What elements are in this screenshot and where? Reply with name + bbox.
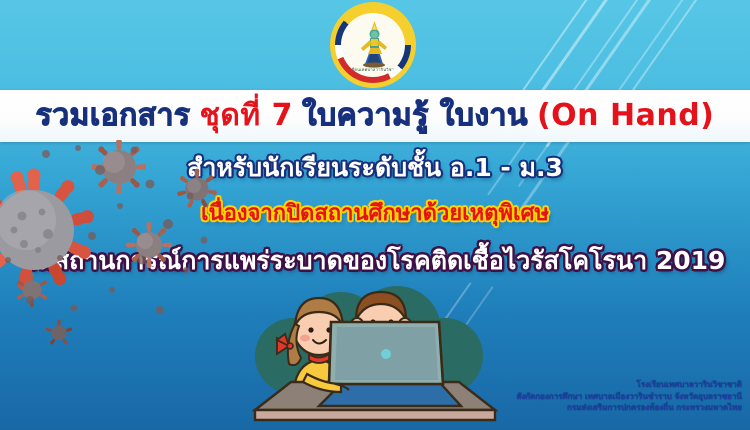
virus-particle-large — [0, 168, 96, 298]
title-part-3: ใบความรู้ ใบงาน — [302, 101, 528, 131]
credits-block: โรงเรียนเทศบาลวารินวิชาชาติ สังกัดกองการ… — [517, 379, 743, 414]
credit-line-2: สังกัดกองการศึกษา เทศบาลเมืองวารินชำราบ … — [517, 391, 743, 403]
banner-root: โรงเรียนเทศบาลวารินวิชาชาติ รวมเอกสาร ชุ… — [0, 0, 750, 430]
credit-line-1: โรงเรียนเทศบาลวารินวิชาชาติ — [517, 379, 743, 391]
virus-particle-small-2 — [44, 318, 74, 348]
credit-line-3: กรมส่งเสริมการปกครองท้องถิ่น กระทรวงมหาด… — [517, 402, 743, 414]
logo-inner-disc: โรงเรียนเทศบาลวารินวิชาชาติ — [341, 13, 405, 77]
illustration-children-laptop — [245, 278, 500, 430]
subtitle-situation: ในสถานการณ์การแพร่ระบาดของโรคติดเชื้อไวร… — [0, 248, 750, 273]
subtitle-grade-range: สำหรับนักเรียนระดับชั้น อ.1 - ม.3 — [0, 155, 750, 180]
logo-ring-text: โรงเรียนเทศบาลวารินวิชาชาติ — [341, 66, 405, 73]
title-part-1: รวมเอกสาร — [36, 101, 191, 131]
virus-particle-small-1 — [14, 272, 50, 308]
title-part-4-on-hand: (On Hand) — [537, 101, 714, 131]
school-logo: โรงเรียนเทศบาลวารินวิชาชาติ — [330, 2, 416, 88]
subtitle-reason: เนื่องจากปิดสถานศึกษาด้วยเหตุพิเศษ — [0, 203, 750, 225]
title-part-2: ชุดที่ 7 — [200, 101, 293, 131]
page-title: รวมเอกสาร ชุดที่ 7 ใบความรู้ ใบงาน (On H… — [0, 90, 750, 142]
laptop — [319, 322, 461, 406]
